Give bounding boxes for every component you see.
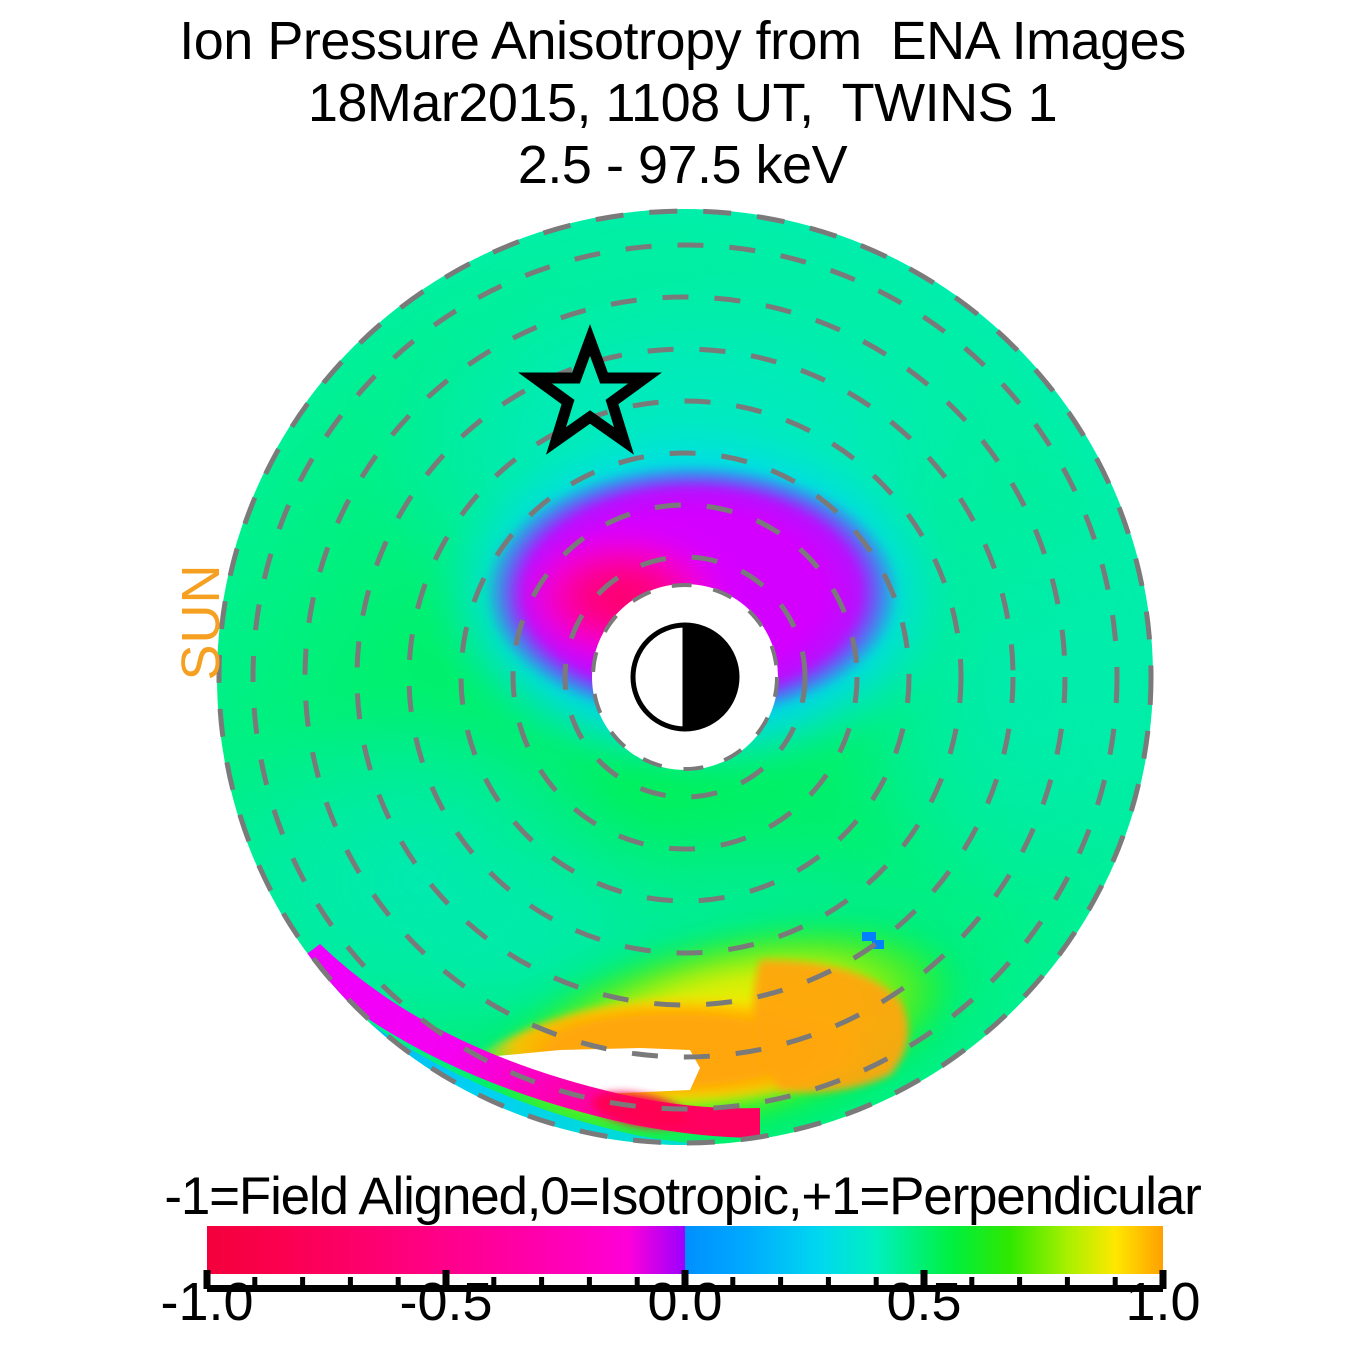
colorbar-caption: -1=Field Aligned,0=Isotropic,+1=Perpendi… — [0, 1168, 1365, 1226]
colorbar-tick-label: 0.0 — [585, 1272, 785, 1332]
colorbar-block: -1=Field Aligned,0=Isotropic,+1=Perpendi… — [0, 1168, 1365, 1226]
colorbar-tick-label: 1.0 — [1063, 1272, 1263, 1332]
pixel-artifact — [862, 932, 876, 941]
sun-direction-label: SUN — [171, 527, 231, 717]
colorbar[interactable] — [207, 1226, 1163, 1274]
colorbar-tick-label: -0.5 — [346, 1272, 546, 1332]
earth-symbol — [633, 623, 737, 731]
colorbar-gradient — [207, 1226, 1163, 1274]
colorbar-tick-label: 0.5 — [824, 1272, 1024, 1332]
colorbar-tick-labels: -1.0-0.50.00.51.0 — [0, 1272, 1365, 1342]
colorbar-tick-label: -1.0 — [107, 1272, 307, 1332]
polar-dial-plot: SUN — [0, 0, 1365, 1190]
